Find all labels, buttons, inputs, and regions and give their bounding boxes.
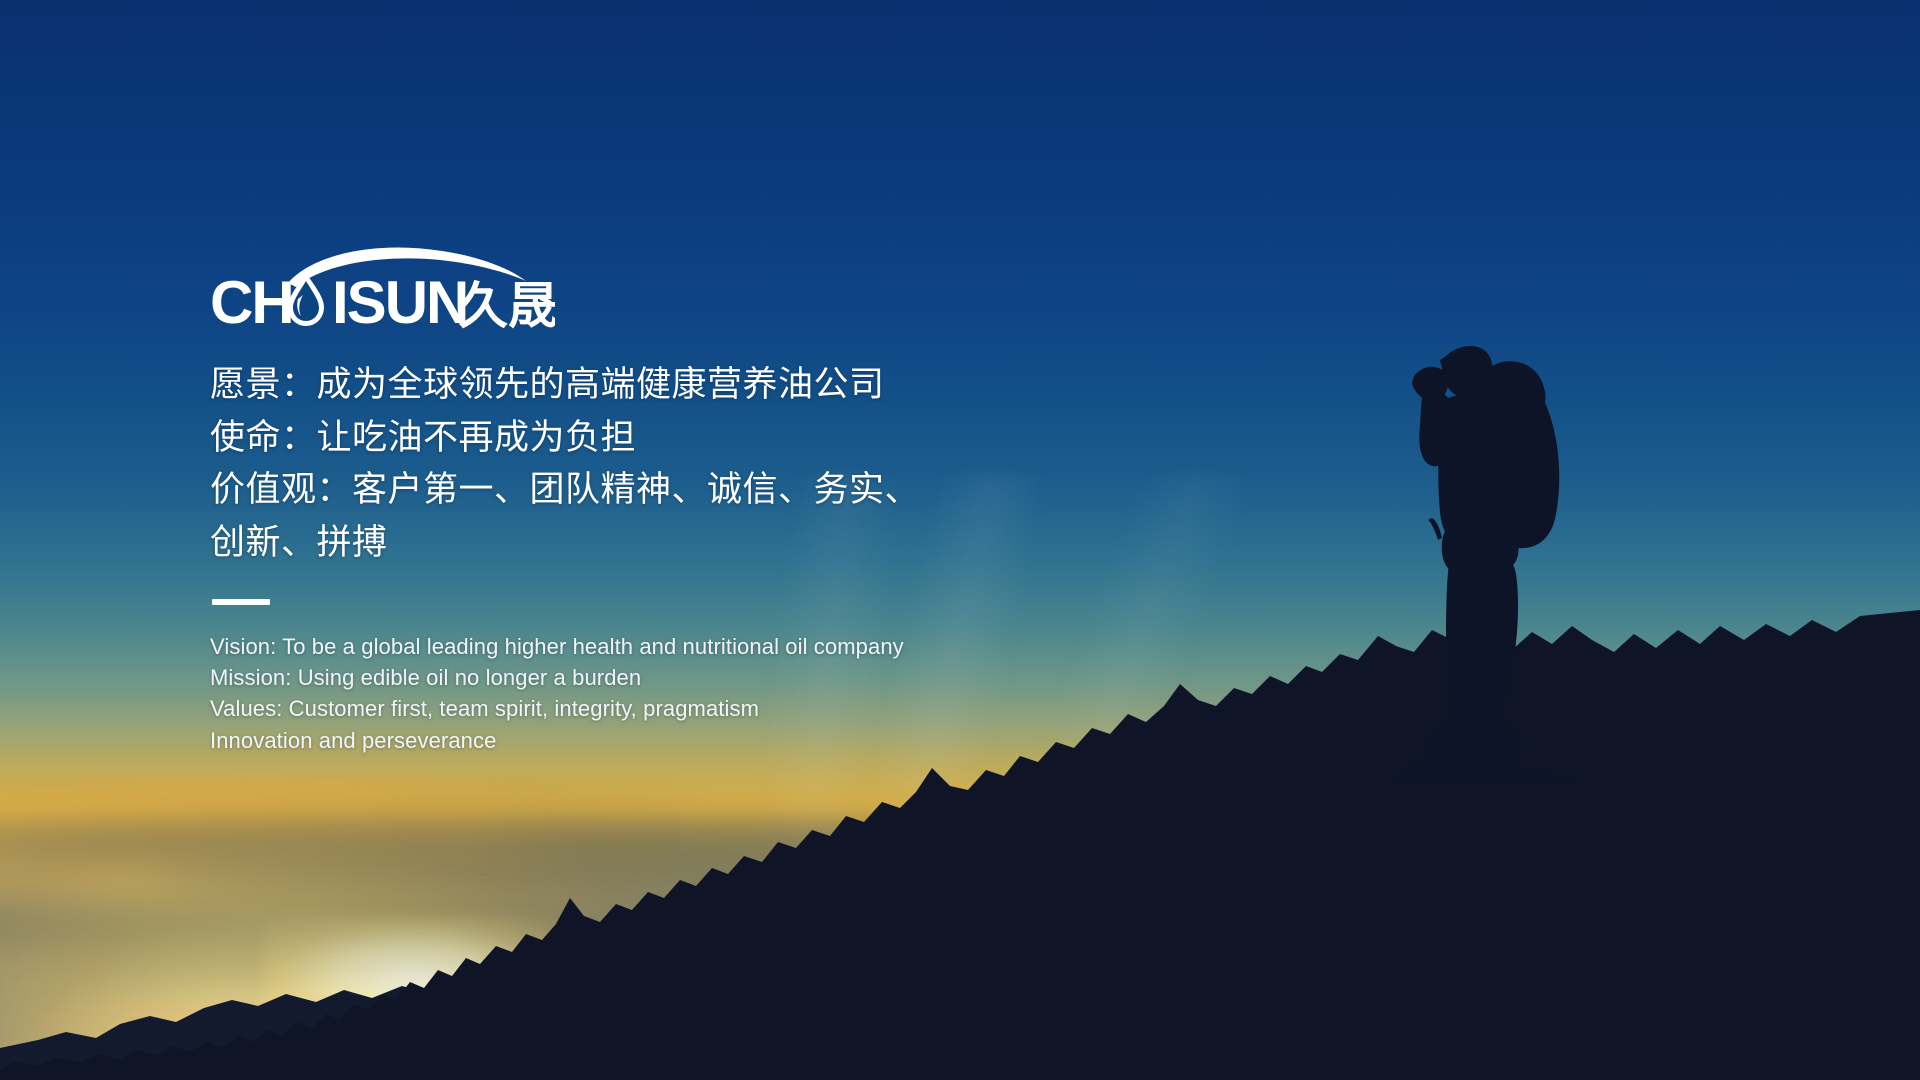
chinese-statements: 愿景：成为全球领先的高端健康营养油公司 使命：让吃油不再成为负担 价值观：客户第… bbox=[210, 359, 1110, 569]
svg-text:ISUN: ISUN bbox=[332, 269, 467, 329]
choisun-logo-svg: CH ISUN 久晟 bbox=[210, 245, 555, 329]
svg-text:CH: CH bbox=[210, 269, 293, 329]
logo-wordmark-cjk: 久晟 bbox=[458, 277, 555, 329]
company-logo[interactable]: CH ISUN 久晟 bbox=[210, 245, 555, 329]
english-statements: Vision: To be a global leading higher he… bbox=[210, 631, 1110, 756]
slide-canvas: CH ISUN 久晟 愿景：成为全球领先的高端健康营养油公司 使命：让吃油不再成… bbox=[0, 0, 1920, 1080]
logo-wordmark-latin: CH ISUN bbox=[210, 269, 467, 329]
hiker-silhouette bbox=[1388, 342, 1598, 782]
section-divider bbox=[212, 599, 270, 605]
content-overlay: CH ISUN 久晟 愿景：成为全球领先的高端健康营养油公司 使命：让吃油不再成… bbox=[210, 245, 1110, 756]
